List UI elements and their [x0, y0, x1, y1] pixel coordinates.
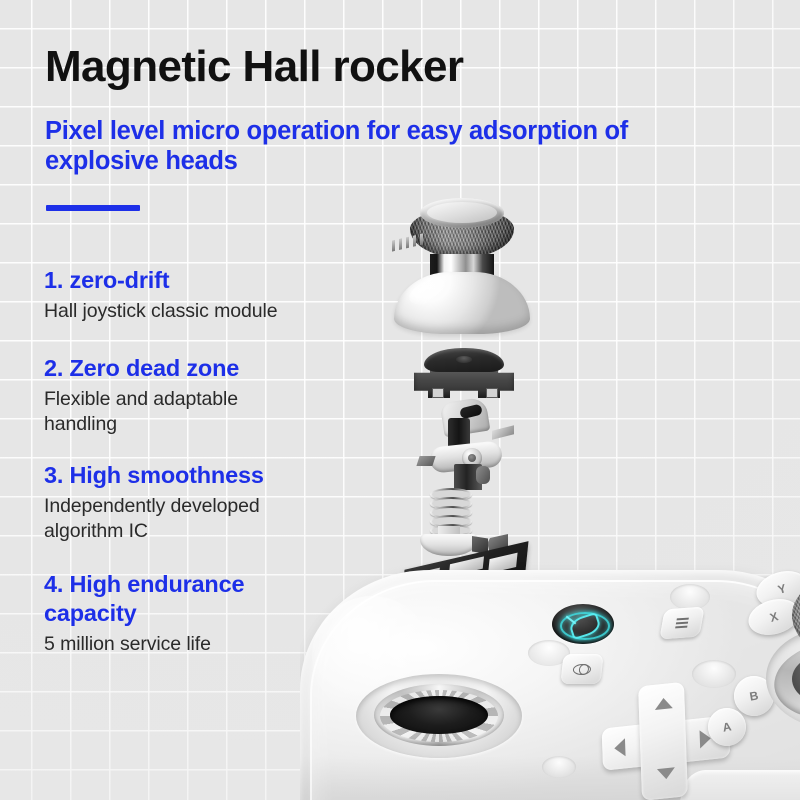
feature-item-2: 2. Zero dead zone Flexible and adaptable… — [44, 354, 374, 437]
cap-top-inner — [427, 202, 497, 223]
dpad-left-arrow-icon — [614, 738, 626, 757]
page-title: Magnetic Hall rocker — [45, 42, 463, 92]
feature-description: Flexible and adaptable handling — [44, 387, 374, 437]
accent-underline — [46, 205, 140, 211]
feature-item-3: 3. High smoothness Independently develop… — [44, 461, 374, 544]
capture-icon — [572, 664, 591, 675]
feature-title: 1. zero-drift — [44, 266, 374, 295]
housing-base — [414, 368, 514, 398]
feature-title: 2. Zero dead zone — [44, 354, 374, 383]
pcb-pin — [413, 235, 416, 247]
dark-stick-housing — [414, 348, 514, 400]
game-controller: Y X B A — [300, 556, 800, 800]
gimbal-fin-left — [416, 456, 435, 466]
feature-item-1: 1. zero-drift Hall joystick classic modu… — [44, 266, 374, 324]
shell-dimple — [670, 584, 710, 610]
spring-seat-cup — [420, 534, 478, 556]
page-subtitle: Pixel level micro operation for easy ads… — [45, 116, 745, 176]
pcb-pin — [406, 237, 409, 249]
housing-ear-left — [432, 388, 444, 398]
shell-dimple — [542, 756, 576, 778]
feature-description: Independently developed algorithm IC — [44, 494, 374, 544]
feature-description: Hall joystick classic module — [44, 299, 374, 324]
gimbal-fin-right — [492, 425, 514, 439]
pcb-pin — [420, 234, 423, 246]
home-button[interactable] — [552, 604, 614, 644]
capture-button[interactable] — [560, 654, 603, 684]
menu-lines-icon — [675, 618, 689, 629]
pcb-pin — [392, 240, 395, 252]
housing-dimple — [456, 356, 472, 363]
gimbal-pivot-dot — [468, 454, 476, 462]
housing-ear-right — [486, 388, 498, 398]
gimbal-knob — [476, 466, 490, 484]
dpad-up-arrow-icon — [655, 697, 673, 710]
feature-title: 3. High smoothness — [44, 461, 374, 490]
pcb-pin — [399, 238, 402, 250]
left-stick-socket-hole — [390, 696, 488, 734]
home-button-glow — [558, 610, 608, 638]
infographic-page: Magnetic Hall rocker Pixel level micro o… — [0, 0, 800, 800]
dpad-down-arrow-icon — [657, 767, 675, 780]
